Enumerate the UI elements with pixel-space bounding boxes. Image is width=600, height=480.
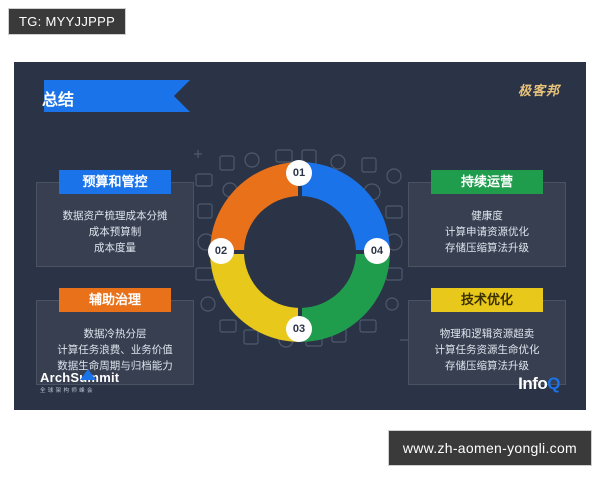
archsummit-logo: ArchSummit 全 球 架 构 师 峰 会 [40, 370, 119, 394]
donut-label-04: 04 [364, 238, 390, 264]
card-tech-line-3: 存储压缩算法升级 [415, 358, 559, 374]
card-ops-line-2: 计算申请资源优化 [415, 224, 559, 240]
card-tech: 技术优化 物理和逻辑资源超卖 计算任务资源生命优化 存储压缩算法升级 [408, 300, 566, 385]
screenshot-root: TG: MYYJJPPP 总结 极客邦 [0, 0, 600, 480]
donut-center-hole [244, 196, 356, 308]
url-watermark-tag: www.zh-aomen-yongli.com [388, 430, 592, 466]
card-budget-title: 预算和管控 [59, 170, 171, 194]
donut-label-01: 01 [286, 160, 312, 186]
card-assist-title: 辅助治理 [59, 288, 171, 312]
card-ops-body: 健康度 计算申请资源优化 存储压缩算法升级 [409, 206, 565, 266]
infoq-logo-prefix: Info [518, 374, 547, 393]
card-assist-line-1: 数据冷热分层 [43, 326, 187, 342]
card-budget-line-3: 成本度量 [43, 240, 187, 256]
card-assist-line-2: 计算任务浪费、业务价值 [43, 342, 187, 358]
card-ops-line-3: 存储压缩算法升级 [415, 240, 559, 256]
donut-chart: 01 02 03 04 [210, 162, 390, 342]
card-budget: 预算和管控 数据资产梳理成本分摊 成本预算制 成本度量 [36, 182, 194, 267]
mountain-icon [80, 369, 96, 380]
card-ops-line-1: 健康度 [415, 208, 559, 224]
card-tech-title: 技术优化 [431, 288, 543, 312]
card-tech-line-2: 计算任务资源生命优化 [415, 342, 559, 358]
slide-title: 总结 [42, 86, 74, 110]
card-budget-body: 数据资产梳理成本分摊 成本预算制 成本度量 [37, 206, 193, 266]
brand-logo-cn: 极客邦 [518, 80, 560, 99]
card-ops-title: 持续运营 [431, 170, 543, 194]
card-tech-line-1: 物理和逻辑资源超卖 [415, 326, 559, 342]
presentation-slide: 总结 极客邦 [14, 62, 586, 410]
donut-label-03: 03 [286, 316, 312, 342]
infoq-logo: InfoQ [518, 374, 560, 394]
card-budget-line-2: 成本预算制 [43, 224, 187, 240]
tg-watermark-tag: TG: MYYJJPPP [8, 8, 126, 35]
archsummit-logo-subtext: 全 球 架 构 师 峰 会 [40, 386, 119, 394]
card-budget-line-1: 数据资产梳理成本分摊 [43, 208, 187, 224]
infoq-logo-suffix: Q [547, 374, 560, 393]
card-ops: 持续运营 健康度 计算申请资源优化 存储压缩算法升级 [408, 182, 566, 267]
donut-label-02: 02 [208, 238, 234, 264]
